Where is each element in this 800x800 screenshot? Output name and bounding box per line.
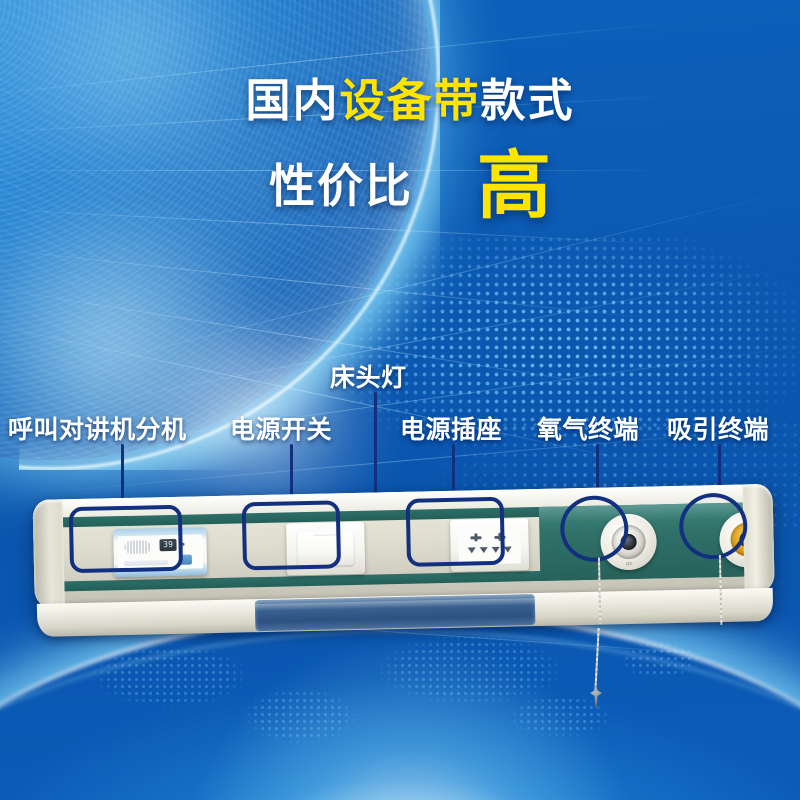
callout-label-oxygen-terminal: 氧气终端	[537, 410, 639, 446]
bed-head-unit: 39	[0, 469, 800, 656]
callout-label-suction-terminal: 吸引终端	[667, 410, 769, 446]
panel-end-cap-right	[742, 484, 774, 593]
highlight-box-power-switch	[242, 500, 341, 570]
headline-line-2: 性价比 高	[0, 149, 800, 223]
socket-slot-4	[504, 547, 512, 553]
highlight-box-intercom	[69, 505, 183, 573]
headline-line-1-part-2: 款式	[481, 75, 575, 126]
callout-label-intercom: 呼叫对讲机分机	[8, 410, 187, 446]
headline-block: 国内设备带款式 性价比 高	[0, 78, 800, 223]
headline-line-2-white: 性价比	[269, 163, 413, 209]
callout-label-bedside-lamp: 床头灯	[330, 358, 407, 394]
halftone-dot-map	[240, 235, 800, 435]
callout-label-power-switch: 电源开关	[230, 410, 332, 446]
highlight-box-power-socket	[406, 497, 505, 567]
headline-line-1-part-1: 设备带	[339, 75, 480, 126]
headline-line-1-part-0: 国内	[245, 75, 339, 126]
bottom-center-glow	[180, 640, 640, 800]
callout-label-power-socket: 电源插座	[400, 410, 502, 446]
promo-banner: 国内设备带款式 性价比 高 呼叫对讲机分机电源开关床头灯电源插座氧气终端吸引终端…	[0, 0, 800, 800]
headline-line-2-yellow: 高	[477, 149, 551, 223]
panel-end-cap-left	[33, 499, 65, 608]
headline-line-1: 国内设备带款式	[0, 78, 800, 123]
rail-blue-section	[255, 594, 536, 631]
